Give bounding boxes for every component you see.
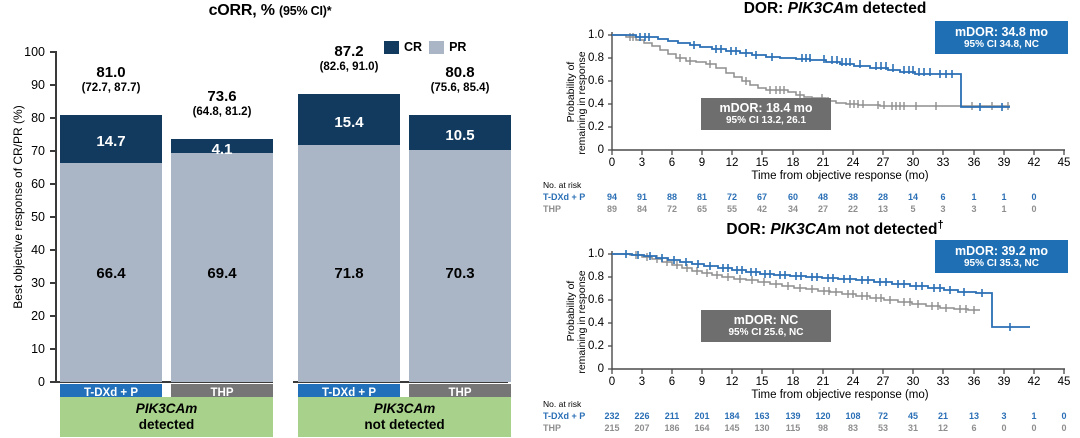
km-bottom-x-tick-45: 45: [1052, 376, 1076, 388]
km-top-risk-thp-9: 65: [690, 204, 714, 214]
km-bottom-mdor-thp-box: mDOR: NC 95% CI 25.6, NC: [701, 310, 831, 342]
km-top-risk-thp-21: 27: [811, 204, 835, 214]
y-tick-100: 100: [17, 47, 45, 57]
y-tick-30: 30: [17, 278, 45, 288]
km-bottom-risk-tdxd-6: 211: [660, 411, 684, 421]
km-bottom-risk-tdxd-33: 21: [931, 411, 955, 421]
km-bottom-risk-thp-15: 130: [750, 423, 774, 433]
km-top-x-tick-6: 6: [660, 157, 684, 169]
km-bottom-x-axis-label: Time from objective response (mo): [690, 389, 990, 401]
mdor-value: mDOR: 18.4 mo: [719, 101, 812, 115]
bar-group2-thp: 10.5 70.3: [409, 115, 511, 382]
bar-value-pr: 70.3: [409, 265, 511, 282]
bar-chart-title-main: cORR, %: [209, 2, 275, 19]
km-bottom-risk-thp-21: 98: [811, 423, 835, 433]
km-bottom-x-tick-42: 42: [1022, 376, 1046, 388]
km-bottom-x-tick-12: 12: [720, 376, 744, 388]
km-top-risk-thp-42: 0: [1022, 204, 1046, 214]
bar-group2-tdxd: 15.4 71.8: [298, 94, 400, 382]
bar-chart-title-sub: (95% CI)*: [279, 4, 331, 18]
bar-value-cr: 14.7: [60, 133, 162, 150]
km-top-risk-tdxd-21: 48: [811, 192, 835, 202]
km-bottom-risk-thp-12: 145: [720, 423, 744, 433]
km-top-risk-thp-15: 42: [750, 204, 774, 214]
km-bottom-risk-tdxd-30: 45: [901, 411, 925, 421]
km-bottom-x-tick-21: 21: [811, 376, 835, 388]
km-bottom-x-tick-30: 30: [901, 376, 925, 388]
mdor-value: mDOR: NC: [734, 313, 799, 327]
km-bottom-risk-tdxd-12: 184: [720, 411, 744, 421]
km-bottom-x-tick-18: 18: [781, 376, 805, 388]
km-top-x-tick-24: 24: [841, 157, 865, 169]
mdor-ci: 95% CI 35.3, NC: [964, 258, 1039, 270]
bar-group1-tdxd: 14.7 66.4: [60, 115, 162, 382]
km-bottom-risk-tdxd-42: 1: [1022, 411, 1046, 421]
km-bottom-x-tick-3: 3: [630, 376, 654, 388]
km-plot-pik3cam-not-detected: DOR: PIK3CAm not detected† Probability o…: [540, 219, 1080, 438]
bar-total-value: 81.0: [36, 65, 186, 81]
bar-group1-thp-annotation: 73.6 (64.8, 81.2): [147, 89, 297, 119]
km-bottom-risk-tdxd-3: 226: [630, 411, 654, 421]
y-tick-40: 40: [17, 245, 45, 255]
km-bottom-risk-thp-3: 207: [630, 423, 654, 433]
km-bottom-x-tick-15: 15: [750, 376, 774, 388]
km-top-risk-label-thp: THP: [543, 204, 561, 214]
y-tick-20: 20: [17, 311, 45, 321]
km-bottom-risk-tdxd-9: 201: [690, 411, 714, 421]
km-bottom-risk-tdxd-45: 0: [1052, 411, 1076, 421]
km-top-y-tick-0: 0: [574, 145, 604, 155]
km-top-risk-label-tdxd: T-DXd + P: [543, 192, 585, 202]
km-bottom-y-tick-04: 0.4: [574, 318, 604, 328]
km-bottom-risk-label-tdxd: T-DXd + P: [543, 411, 585, 421]
km-top-y-tick-04: 0.4: [574, 99, 604, 109]
km-top-x-tick-3: 3: [630, 157, 654, 169]
km-bottom-x-tick-39: 39: [992, 376, 1016, 388]
mutation-gene-label: PIK3CAm: [374, 401, 436, 417]
km-top-x-tick-27: 27: [871, 157, 895, 169]
km-top-x-tick-0: 0: [600, 157, 624, 169]
km-bottom-risk-thp-45: 0: [1052, 423, 1076, 433]
bar-total-ci: (75.6, 85.4): [385, 81, 535, 95]
km-top-x-tick-18: 18: [781, 157, 805, 169]
km-top-x-tick-21: 21: [811, 157, 835, 169]
km-top-risk-tdxd-15: 67: [750, 192, 774, 202]
km-top-risk-thp-24: 22: [841, 204, 865, 214]
bar-value-cr: 15.4: [298, 114, 400, 131]
km-top-y-tick-06: 0.6: [574, 76, 604, 86]
km-bottom-risk-tdxd-21: 120: [811, 411, 835, 421]
km-top-x-tick-30: 30: [901, 157, 925, 169]
km-top-risk-tdxd-24: 38: [841, 192, 865, 202]
km-top-x-tick-12: 12: [720, 157, 744, 169]
km-top-risk-thp-36: 3: [962, 204, 986, 214]
km-bottom-risk-tdxd-24: 108: [841, 411, 865, 421]
km-top-risk-tdxd-0: 94: [600, 192, 624, 202]
km-bottom-risk-thp-27: 53: [871, 423, 895, 433]
km-top-y-tick-08: 0.8: [574, 53, 604, 63]
bar-group1-thp: 4.1 69.4: [171, 139, 273, 382]
km-top-risk-tdxd-39: 1: [992, 192, 1016, 202]
km-bottom-risk-tdxd-27: 72: [871, 411, 895, 421]
mdor-ci: 95% CI 34.8, NC: [964, 39, 1039, 51]
km-top-x-tick-9: 9: [690, 157, 714, 169]
km-top-risk-thp-0: 89: [600, 204, 624, 214]
bar-value-pr: 69.4: [171, 265, 273, 282]
km-top-risk-tdxd-30: 14: [901, 192, 925, 202]
km-bottom-y-tick-02: 0.2: [574, 341, 604, 351]
km-top-risk-tdxd-3: 91: [630, 192, 654, 202]
km-bottom-risk-thp-9: 164: [690, 423, 714, 433]
km-top-risk-tdxd-27: 28: [871, 192, 895, 202]
km-bottom-y-tick-1: 1.0: [574, 249, 604, 259]
y-tick-60: 60: [17, 179, 45, 189]
km-bottom-risk-thp-42: 0: [1022, 423, 1046, 433]
km-bottom-risk-tdxd-18: 139: [781, 411, 805, 421]
km-plot-pik3cam-detected: DOR: PIK3CAm detected Probability of rem…: [540, 0, 1080, 219]
km-top-risk-tdxd-12: 72: [720, 192, 744, 202]
km-bottom-x-tick-0: 0: [600, 376, 624, 388]
km-top-risk-thp-39: 1: [992, 204, 1016, 214]
km-bottom-risk-thp-18: 115: [781, 423, 805, 433]
km-top-x-axis-label: Time from objective response (mo): [690, 170, 990, 182]
bar-chart-y-axis-line: [55, 51, 57, 383]
y-tick-80: 80: [17, 113, 45, 123]
km-bottom-x-tick-6: 6: [660, 376, 684, 388]
km-bottom-x-tick-33: 33: [931, 376, 955, 388]
bar-segment-pr: [298, 145, 400, 382]
mdor-value: mDOR: 34.8 mo: [955, 25, 1048, 39]
bar-total-ci: (64.8, 81.2): [147, 105, 297, 119]
km-top-y-tick-02: 0.2: [574, 122, 604, 132]
y-tick-50: 50: [17, 212, 45, 222]
km-top-risk-thp-3: 84: [630, 204, 654, 214]
km-top-risk-tdxd-36: 1: [962, 192, 986, 202]
bar-value-cr: 4.1: [171, 141, 273, 158]
mdor-ci: 95% CI 25.6, NC: [728, 327, 803, 339]
km-top-risk-thp-30: 5: [901, 204, 925, 214]
km-bottom-risk-tdxd-36: 13: [962, 411, 986, 421]
km-bottom-x-tick-36: 36: [962, 376, 986, 388]
km-top-risk-thp-33: 3: [931, 204, 955, 214]
km-top-x-tick-33: 33: [931, 157, 955, 169]
mdor-ci: 95% CI 13.2, 26.1: [726, 115, 806, 127]
y-tick-10: 10: [17, 344, 45, 354]
km-bottom-risk-thp-30: 31: [901, 423, 925, 433]
bar-value-cr: 10.5: [409, 127, 511, 144]
km-bottom-risk-thp-6: 186: [660, 423, 684, 433]
km-top-risk-thp-27: 13: [871, 204, 895, 214]
km-top-risk-tdxd-9: 81: [690, 192, 714, 202]
km-top-x-tick-42: 42: [1022, 157, 1046, 169]
km-bottom-x-tick-27: 27: [871, 376, 895, 388]
km-bottom-risk-thp-39: 0: [992, 423, 1016, 433]
km-top-risk-thp-18: 34: [781, 204, 805, 214]
km-top-x-tick-36: 36: [962, 157, 986, 169]
km-bottom-risk-thp-36: 6: [962, 423, 986, 433]
km-bottom-x-tick-9: 9: [690, 376, 714, 388]
km-bottom-risk-thp-0: 215: [600, 423, 624, 433]
km-top-risk-title: No. at risk: [543, 180, 581, 190]
km-top-mdor-tdxd-box: mDOR: 34.8 mo 95% CI 34.8, NC: [935, 21, 1068, 54]
km-bottom-risk-thp-24: 83: [841, 423, 865, 433]
mutation-gene-label: PIK3CAm: [136, 401, 198, 417]
km-top-risk-thp-6: 72: [660, 204, 684, 214]
km-top-mdor-thp-box: mDOR: 18.4 mo 95% CI 13.2, 26.1: [701, 98, 831, 130]
mutation-box-not-detected: PIK3CAm not detected: [298, 397, 511, 437]
km-top-risk-tdxd-18: 60: [781, 192, 805, 202]
mutation-status-label: detected: [139, 417, 195, 433]
km-bottom-risk-title: No. at risk: [543, 399, 581, 409]
km-top-risk-tdxd-42: 0: [1022, 192, 1046, 202]
mutation-status-label: not detected: [364, 417, 444, 433]
legend-swatch-pr-icon: [429, 41, 444, 54]
bar-total-value: 87.2: [274, 44, 424, 60]
y-tick-70: 70: [17, 146, 45, 156]
km-top-x-tick-45: 45: [1052, 157, 1076, 169]
mdor-value: mDOR: 39.2 mo: [955, 244, 1048, 258]
km-top-risk-tdxd-33: 6: [931, 192, 955, 202]
km-bottom-y-tick-06: 0.6: [574, 295, 604, 305]
km-bottom-risk-thp-33: 12: [931, 423, 955, 433]
bar-total-value: 73.6: [147, 89, 297, 105]
bar-total-value: 80.8: [385, 65, 535, 81]
km-top-y-tick-1: 1.0: [574, 30, 604, 40]
bar-chart-title: cORR, % (95% CI)*: [0, 2, 540, 20]
km-bottom-risk-tdxd-15: 163: [750, 411, 774, 421]
legend-label-pr: PR: [449, 40, 466, 54]
bar-group2-thp-annotation: 80.8 (75.6, 85.4): [385, 65, 535, 95]
km-bottom-risk-tdxd-39: 3: [992, 411, 1016, 421]
km-top-risk-tdxd-6: 88: [660, 192, 684, 202]
km-bottom-y-tick-08: 0.8: [574, 272, 604, 282]
mutation-box-detected: PIK3CAm detected: [60, 397, 273, 437]
km-bottom-risk-tdxd-0: 232: [600, 411, 624, 421]
corr-bar-chart-panel: cORR, % (95% CI)* Best objective respons…: [0, 0, 540, 438]
bar-value-pr: 71.8: [298, 265, 400, 282]
km-top-x-tick-15: 15: [750, 157, 774, 169]
km-bottom-mdor-tdxd-box: mDOR: 39.2 mo 95% CI 35.3, NC: [935, 240, 1068, 273]
legend-entry-pr: PR: [429, 40, 466, 54]
km-top-x-tick-39: 39: [992, 157, 1016, 169]
km-bottom-x-tick-24: 24: [841, 376, 865, 388]
y-tick-0: 0: [17, 377, 45, 387]
km-top-risk-thp-12: 55: [720, 204, 744, 214]
km-bottom-risk-label-thp: THP: [543, 423, 561, 433]
bar-value-pr: 66.4: [60, 265, 162, 282]
km-bottom-y-tick-0: 0: [574, 364, 604, 374]
